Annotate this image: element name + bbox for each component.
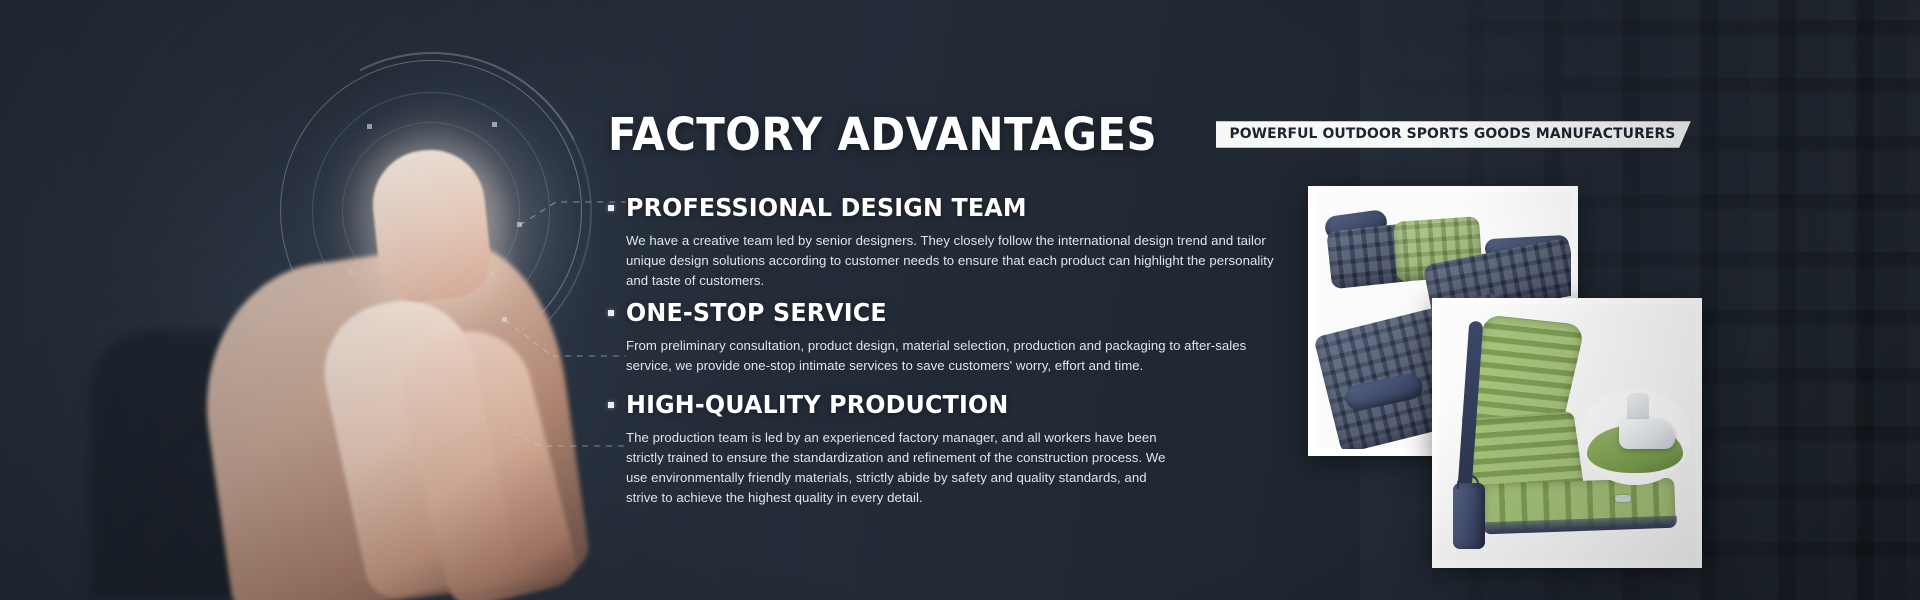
feature-heading: PROFESSIONAL DESIGN TEAM [626, 195, 1027, 221]
foot-pump-inset [1579, 389, 1691, 485]
tagline-badge: POWERFUL OUTDOOR SPORTS GOODS MANUFACTUR… [1216, 121, 1691, 148]
hud-dot [492, 122, 497, 127]
hud-dot [367, 124, 372, 129]
feature-heading-row: PROFESSIONAL DESIGN TEAM [608, 195, 1308, 221]
stuff-sack [1453, 483, 1485, 549]
bullet-square-icon [608, 402, 614, 408]
content-column: FACTORY ADVANTAGES POWERFUL OUTDOOR SPOR… [608, 0, 1308, 600]
feature-heading: HIGH-QUALITY PRODUCTION [626, 392, 1008, 418]
feature-body: We have a creative team led by senior de… [626, 231, 1298, 291]
bullet-square-icon [608, 205, 614, 211]
shoe-icon [1619, 419, 1675, 449]
feature-block-2: ONE-STOP SERVICE From preliminary consul… [608, 300, 1308, 376]
feature-body: From preliminary consultation, product d… [626, 336, 1266, 376]
factory-advantages-banner: FACTORY ADVANTAGES POWERFUL OUTDOOR SPOR… [0, 0, 1920, 600]
page-title: FACTORY ADVANTAGES [608, 112, 1157, 157]
bullet-square-icon [608, 310, 614, 316]
feature-body: The production team is led by an experie… [626, 428, 1166, 508]
feature-heading-row: ONE-STOP SERVICE [608, 300, 1308, 326]
feature-block-3: HIGH-QUALITY PRODUCTION The production t… [608, 392, 1308, 508]
product-card-2[interactable] [1432, 298, 1702, 568]
air-valve-icon [1615, 495, 1631, 502]
title-row: FACTORY ADVANTAGES POWERFUL OUTDOOR SPOR… [608, 112, 1711, 157]
product-image-2 [1439, 305, 1695, 561]
feature-heading-row: HIGH-QUALITY PRODUCTION [608, 392, 1308, 418]
sack-cord [1457, 475, 1479, 489]
feature-heading: ONE-STOP SERVICE [626, 300, 887, 326]
feature-block-1: PROFESSIONAL DESIGN TEAM We have a creat… [608, 195, 1308, 291]
